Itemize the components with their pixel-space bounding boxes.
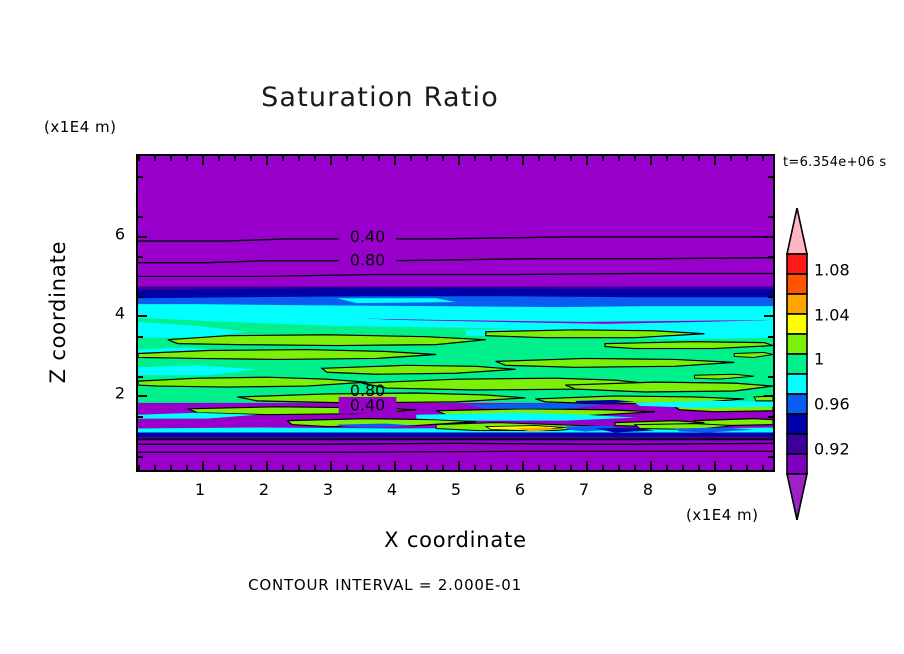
x-axis-unit-label: (x1E4 m) bbox=[686, 506, 759, 524]
y-tick-right-minor bbox=[768, 456, 773, 458]
x-tick-top-minor bbox=[314, 156, 316, 161]
y-tick-major bbox=[138, 395, 147, 397]
y-tick-label: 4 bbox=[115, 304, 125, 323]
colorbar-label-group: 1.08 1.04 1 0.96 0.92 bbox=[814, 208, 884, 520]
x-tick-top-minor bbox=[378, 156, 380, 161]
y-tick-major bbox=[138, 315, 147, 317]
x-tick-top-minor bbox=[698, 156, 700, 161]
x-tick-top-minor bbox=[474, 156, 476, 161]
x-tick-top-minor bbox=[250, 156, 252, 161]
x-tick-minor bbox=[362, 465, 364, 470]
x-tick-minor bbox=[554, 465, 556, 470]
x-tick-minor bbox=[154, 465, 156, 470]
x-tick-top-minor bbox=[234, 156, 236, 161]
x-tick-major bbox=[202, 461, 204, 470]
y-tick-minor bbox=[138, 216, 143, 218]
colorbar-band-3 bbox=[787, 394, 807, 414]
y-tick-right-minor bbox=[768, 216, 773, 218]
x-tick-top-major bbox=[714, 156, 716, 165]
colorbar-tick-label: 0.92 bbox=[814, 440, 850, 459]
x-tick-minor bbox=[234, 465, 236, 470]
x-tick-top-minor bbox=[442, 156, 444, 161]
x-tick-minor bbox=[538, 465, 540, 470]
x-tick-top-minor bbox=[186, 156, 188, 161]
x-axis-title: X coordinate bbox=[136, 528, 775, 552]
x-tick-minor bbox=[378, 465, 380, 470]
y-tick-minor bbox=[138, 296, 143, 298]
x-tick-top-minor bbox=[538, 156, 540, 161]
colorbar-band-6 bbox=[787, 334, 807, 354]
x-tick-label: 9 bbox=[707, 480, 717, 499]
x-tick-top-minor bbox=[362, 156, 364, 161]
x-tick-top-minor bbox=[730, 156, 732, 161]
x-tick-minor bbox=[218, 465, 220, 470]
y-tick-right-minor bbox=[768, 416, 773, 418]
y-tick-label: 2 bbox=[115, 384, 125, 403]
x-tick-label: 1 bbox=[195, 480, 205, 499]
x-tick-minor bbox=[186, 465, 188, 470]
x-tick-minor bbox=[426, 465, 428, 470]
x-tick-top-minor bbox=[426, 156, 428, 161]
y-tick-minor bbox=[138, 416, 143, 418]
colorbar-band-10 bbox=[787, 254, 807, 274]
x-tick-top-minor bbox=[570, 156, 572, 161]
y-tick-right-major bbox=[764, 395, 773, 397]
colorbar-band-4 bbox=[787, 374, 807, 394]
x-tick-minor bbox=[250, 465, 252, 470]
y-tick-minor bbox=[138, 256, 143, 258]
x-tick-major bbox=[650, 461, 652, 470]
x-tick-minor bbox=[698, 465, 700, 470]
x-tick-top-minor bbox=[634, 156, 636, 161]
y-tick-minor bbox=[138, 376, 143, 378]
x-tick-minor bbox=[730, 465, 732, 470]
x-tick-top-minor bbox=[218, 156, 220, 161]
contour-field: 0.40 0.80 0.80 0.40 bbox=[138, 156, 773, 470]
colorbar-tick-label: 0.96 bbox=[814, 395, 850, 414]
x-tick-minor bbox=[346, 465, 348, 470]
colorbar-tick-label: 1 bbox=[814, 350, 824, 369]
x-tick-minor bbox=[634, 465, 636, 470]
page-title: Saturation Ratio bbox=[0, 82, 760, 113]
x-tick-top-minor bbox=[170, 156, 172, 161]
colorbar-band-2 bbox=[787, 414, 807, 434]
x-tick-label: 3 bbox=[323, 480, 333, 499]
x-tick-top-minor bbox=[618, 156, 620, 161]
y-tick-label-column: 2 4 6 bbox=[95, 154, 125, 472]
x-tick-major bbox=[330, 461, 332, 470]
colorbar-band-5 bbox=[787, 354, 807, 374]
y-axis-title: Z coordinate bbox=[46, 212, 70, 412]
x-tick-major bbox=[522, 461, 524, 470]
x-tick-top-minor bbox=[746, 156, 748, 161]
x-tick-minor bbox=[682, 465, 684, 470]
x-tick-major bbox=[714, 461, 716, 470]
x-tick-major bbox=[586, 461, 588, 470]
contour-label-040-top: 0.40 bbox=[350, 227, 385, 246]
x-tick-top-minor bbox=[154, 156, 156, 161]
x-tick-top-minor bbox=[602, 156, 604, 161]
x-tick-label: 7 bbox=[579, 480, 589, 499]
x-tick-top-minor bbox=[682, 156, 684, 161]
x-tick-top-major bbox=[522, 156, 524, 165]
y-tick-label: 6 bbox=[115, 225, 125, 244]
x-tick-major bbox=[266, 461, 268, 470]
x-tick-minor bbox=[490, 465, 492, 470]
x-tick-label: 6 bbox=[515, 480, 525, 499]
x-tick-top-major bbox=[650, 156, 652, 165]
y-tick-right-major bbox=[764, 315, 773, 317]
contour-plot-axes: 0.40 0.80 0.80 0.40 bbox=[136, 154, 775, 472]
y-tick-major bbox=[138, 236, 147, 238]
x-tick-top-minor bbox=[346, 156, 348, 161]
x-tick-minor bbox=[762, 465, 764, 470]
y-tick-right-minor bbox=[768, 376, 773, 378]
y-tick-minor bbox=[138, 456, 143, 458]
time-annotation: t=6.354e+06 s bbox=[783, 155, 886, 170]
colorbar-over-arrow bbox=[787, 208, 807, 254]
x-tick-top-minor bbox=[554, 156, 556, 161]
x-tick-top-major bbox=[586, 156, 588, 165]
colorbar bbox=[786, 208, 808, 520]
colorbar-under-arrow bbox=[787, 474, 807, 520]
colorbar-tick-label: 1.04 bbox=[814, 306, 850, 325]
x-tick-minor bbox=[410, 465, 412, 470]
x-tick-minor bbox=[618, 465, 620, 470]
y-tick-right-minor bbox=[768, 336, 773, 338]
x-tick-top-major bbox=[202, 156, 204, 165]
y-tick-right-minor bbox=[768, 256, 773, 258]
y-tick-right-minor bbox=[768, 296, 773, 298]
x-tick-top-minor bbox=[666, 156, 668, 161]
contour-label-080-top: 0.80 bbox=[350, 251, 385, 270]
x-tick-minor bbox=[666, 465, 668, 470]
x-tick-label: 2 bbox=[259, 480, 269, 499]
x-tick-top-minor bbox=[762, 156, 764, 161]
x-tick-minor bbox=[282, 465, 284, 470]
y-tick-minor bbox=[138, 176, 143, 178]
x-tick-label: 8 bbox=[643, 480, 653, 499]
y-tick-right-major bbox=[764, 236, 773, 238]
colorbar-svg bbox=[786, 208, 808, 520]
x-tick-label: 4 bbox=[387, 480, 397, 499]
x-tick-top-minor bbox=[282, 156, 284, 161]
x-tick-top-major bbox=[458, 156, 460, 165]
contour-interval-caption: CONTOUR INTERVAL = 2.000E-01 bbox=[0, 576, 770, 594]
x-tick-top-major bbox=[330, 156, 332, 165]
x-tick-minor bbox=[138, 465, 140, 470]
x-tick-top-minor bbox=[138, 156, 140, 161]
x-tick-minor bbox=[298, 465, 300, 470]
x-tick-top-major bbox=[394, 156, 396, 165]
x-tick-label: 5 bbox=[451, 480, 461, 499]
y-tick-minor bbox=[138, 336, 143, 338]
x-tick-top-minor bbox=[298, 156, 300, 161]
x-tick-top-minor bbox=[490, 156, 492, 161]
x-tick-major bbox=[458, 461, 460, 470]
colorbar-band-0 bbox=[787, 454, 807, 474]
x-tick-minor bbox=[746, 465, 748, 470]
x-tick-minor bbox=[570, 465, 572, 470]
colorbar-band-9 bbox=[787, 274, 807, 294]
x-tick-minor bbox=[170, 465, 172, 470]
x-tick-minor bbox=[506, 465, 508, 470]
x-tick-minor bbox=[474, 465, 476, 470]
contour-label-040-bottom: 0.40 bbox=[350, 396, 385, 415]
x-tick-top-minor bbox=[410, 156, 412, 161]
x-tick-minor bbox=[602, 465, 604, 470]
colorbar-band-8 bbox=[787, 294, 807, 314]
x-tick-top-minor bbox=[506, 156, 508, 161]
y-tick-right-minor bbox=[768, 176, 773, 178]
x-tick-minor bbox=[314, 465, 316, 470]
colorbar-band-1 bbox=[787, 434, 807, 454]
x-tick-top-major bbox=[266, 156, 268, 165]
y-axis-unit-label: (x1E4 m) bbox=[44, 118, 117, 136]
x-tick-major bbox=[394, 461, 396, 470]
x-tick-minor bbox=[442, 465, 444, 470]
colorbar-tick-label: 1.08 bbox=[814, 261, 850, 280]
colorbar-band-7 bbox=[787, 314, 807, 334]
